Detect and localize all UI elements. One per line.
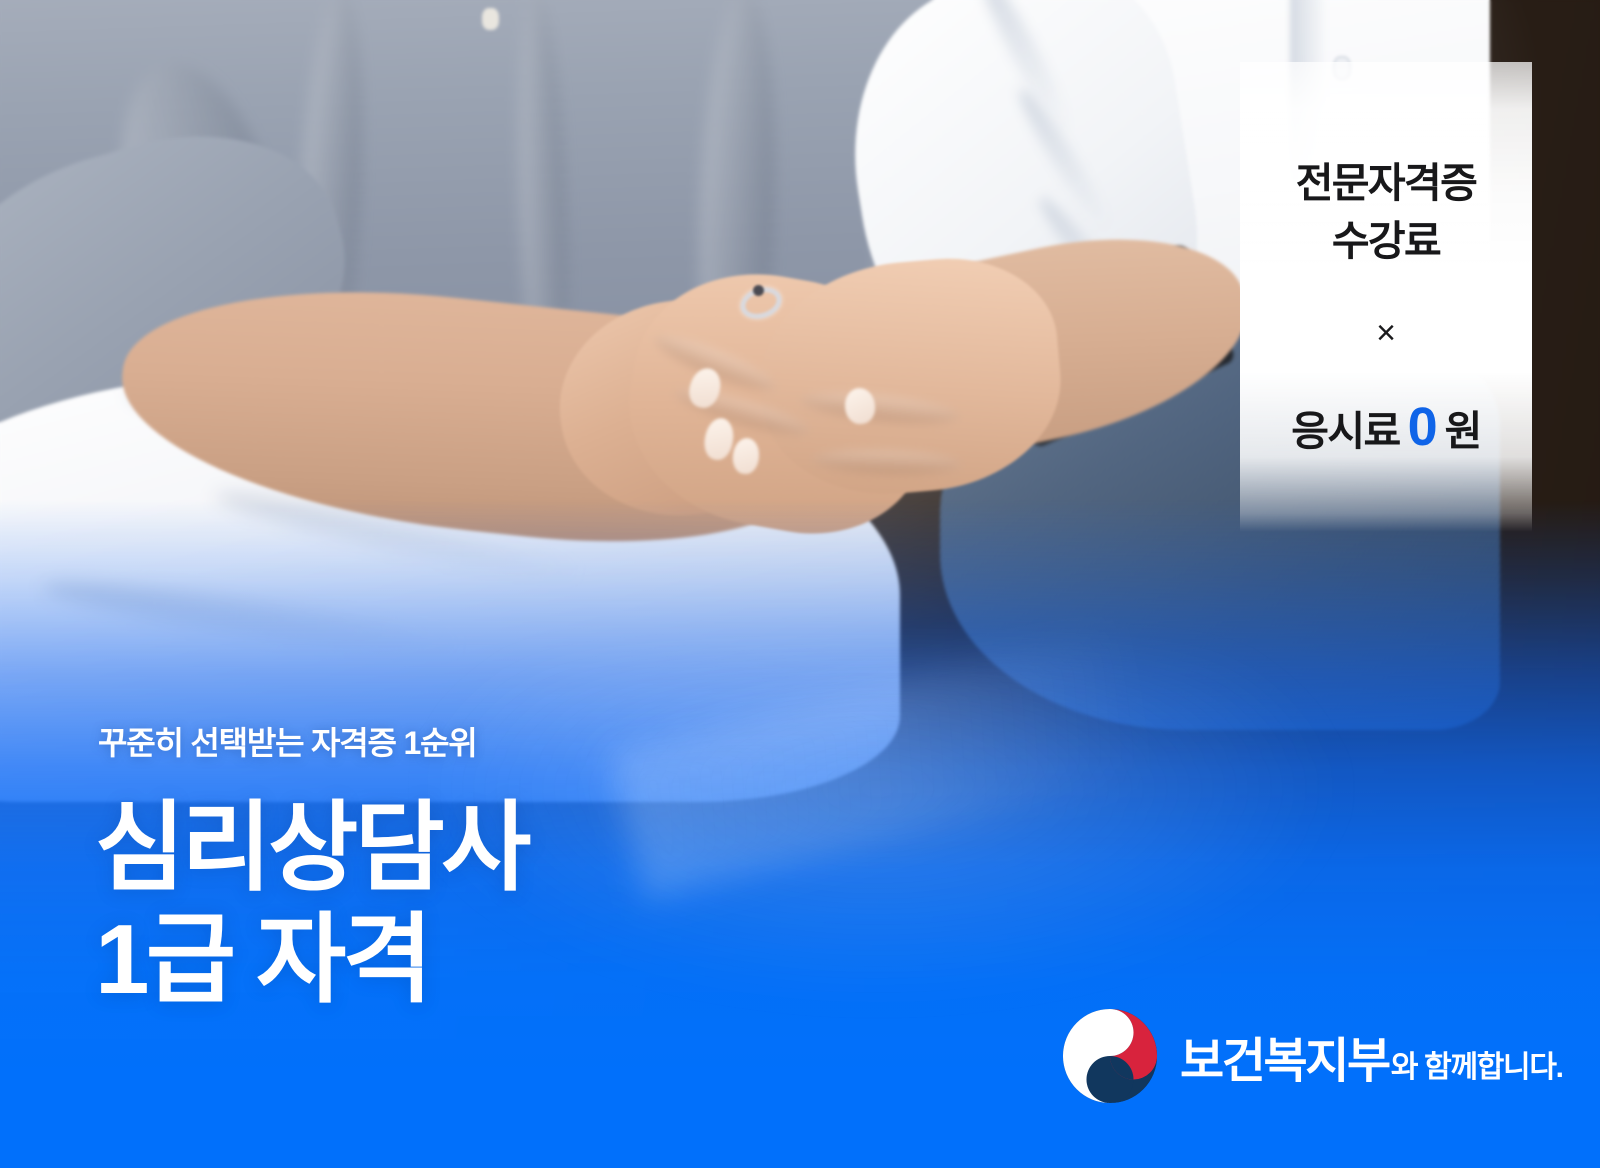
- badge-exam-fee: 응시료 0 원: [1291, 396, 1481, 458]
- ring-gem: [753, 285, 764, 296]
- blouse-button: [482, 8, 499, 30]
- multiply-icon: ×: [1376, 316, 1396, 350]
- korean-government-taegeuk-emblem: [1062, 1008, 1158, 1104]
- page-title-line1: 심리상담사: [95, 792, 528, 904]
- ministry-text: 보건복지부 와 함께합니다.: [1180, 1021, 1563, 1091]
- badge-line-certificate: 전문자격증: [1296, 154, 1477, 212]
- ministry-suffix: 와 함께합니다.: [1391, 1042, 1563, 1086]
- page-title-line2: 1급 자격: [95, 904, 528, 1016]
- exam-fee-unit: 원: [1445, 397, 1481, 457]
- ministry-endorsement: 보건복지부 와 함께합니다.: [1062, 1008, 1563, 1104]
- badge-line-tuition: 수강료: [1332, 212, 1440, 270]
- price-badge: 전문자격증 수강료 × 응시료 0 원: [1240, 62, 1532, 532]
- promo-banner: 전문자격증 수강료 × 응시료 0 원 꾸준히 선택받는 자격증 1순위 심리상…: [0, 0, 1600, 1168]
- headline-block: 꾸준히 선택받는 자격증 1순위 심리상담사 1급 자격: [95, 718, 528, 1015]
- exam-fee-amount: 0: [1408, 396, 1437, 458]
- ministry-name: 보건복지부: [1180, 1021, 1389, 1091]
- eyebrow-text: 꾸준히 선택받는 자격증 1순위: [98, 718, 528, 764]
- exam-fee-label: 응시료: [1291, 397, 1399, 457]
